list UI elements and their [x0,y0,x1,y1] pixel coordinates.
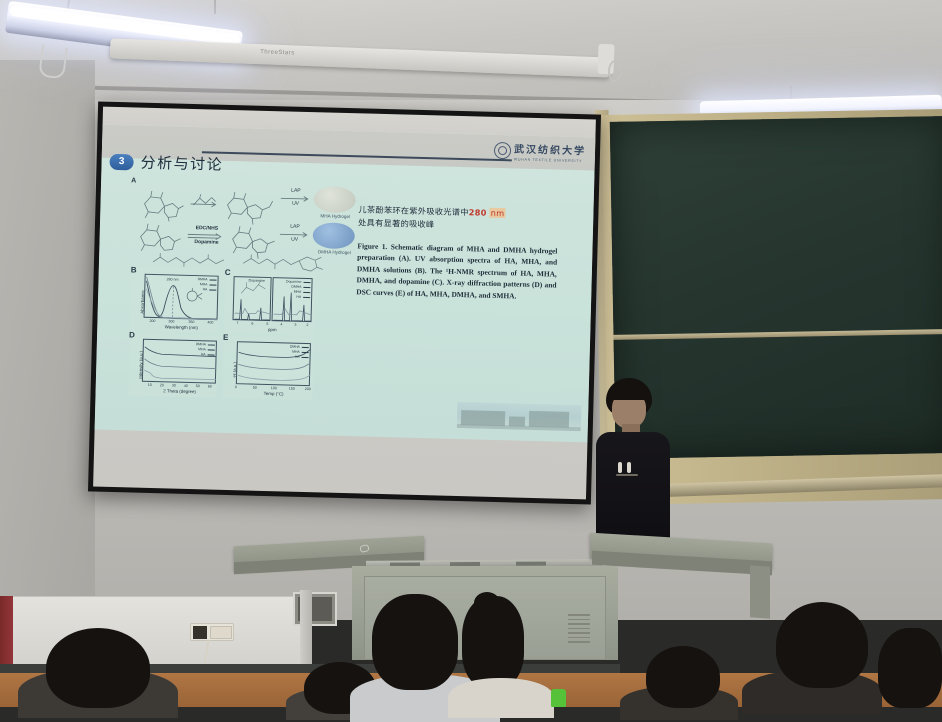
panel-e-xtick: 200 [305,387,311,391]
panel-d-xtick: 40 [184,384,188,388]
panel-b-xlabel: Wavelength (nm) [144,324,218,331]
molecule-bottom-right [241,252,327,272]
campus-photo [457,402,582,431]
panel-c-xtick: 6 [251,322,253,326]
panel-d-legend: DMHA MHA HA [196,342,215,357]
panel-c-plot-left: Dopamine [233,276,272,321]
panel-e-ylabel: -H (a.u.) [232,362,237,378]
panel-c-xlabel: ppm [232,326,312,333]
panel-d-chart: D DMHA MHA HA 10 20 [129,333,219,397]
figure-caption: Figure 1. Schematic diagram of MHA and D… [356,240,557,302]
audience-head [878,628,942,708]
panel-c-xtick: 5 [266,322,268,326]
arrow-a4-below-label: UV [282,236,308,243]
presenter-fringe [607,383,651,400]
molecule-ha [138,188,187,223]
shirt-graphic-icon [616,462,638,475]
panel-b-xtick: 400 [207,320,213,324]
panel-b-ylabel: Absorbance [140,290,146,314]
side-table-right-leg [750,565,770,618]
arrow-a3-below-label: Dopamine [187,239,225,246]
arrow-a3-above-label: EDC/NHS [188,225,226,232]
panel-c-left-label: Dopamine [249,278,265,282]
panel-b-label: B [131,265,137,274]
panel-b-annotation: 280 nm [167,277,179,281]
light-wire [214,0,216,14]
arrow-a4-above-label: LAP [282,223,308,230]
door-frame [300,590,312,674]
audience-head [776,602,868,688]
panel-e-plot: DMHA MHA HA [236,341,311,386]
legend-item: HA [296,295,301,300]
panel-e-chart: E DMHA MHA HA 0 50 [222,336,314,400]
mha-hydrogel-blob [313,186,356,213]
panel-c-chart: C Dopamine [224,270,316,335]
legend-item: HA [295,355,300,360]
panel-e-xtick: 100 [271,386,277,390]
panel-c-xtick: 4 [280,322,282,326]
audience-shoulders [448,678,554,718]
projection-screen: 武汉纺织大学 WUHAN TEXTILE UNIVERSITY 3 分析与讨论 … [88,101,601,504]
panel-b-xtick: 300 [168,319,174,323]
slide-title: 分析与讨论 [140,152,223,175]
panel-b-plot: 280 nm DMHA MHA HA [144,274,219,320]
audience-head [372,594,458,690]
panel-c-xtick: 3 [294,323,296,327]
projector-brand-label: ThreeStars [260,49,295,56]
panel-b-xtick: 200 [149,319,155,323]
panel-e-xtick: 50 [253,386,257,390]
wall-outlet[interactable] [190,623,234,641]
classroom-scene: ThreeStars 武汉纺织大学 WUHAN TEXTILE UNIVERSI… [0,0,942,707]
panel-c-legend: Dopamine DMHA MHA HA [286,279,311,300]
dmha-hydrogel-blob [312,222,355,249]
panel-b-xtick: 350 [188,320,194,324]
panel-b-chart: B 280 nm [130,267,220,332]
panel-e-xtick: 150 [289,387,295,391]
panel-d-xtick: 10 [148,383,152,387]
left-wall [0,60,95,620]
arrow-a1-below-label: UV [283,200,309,207]
logo-name-cn: 武汉纺织大学 [514,144,586,157]
panel-e-xtick: 0 [235,385,237,389]
legend-item: HA [203,287,208,292]
panel-e-legend: DMHA MHA HA [290,345,309,360]
panel-c-label: C [225,268,231,277]
panel-a-label: A [131,177,136,184]
panel-d-xtick: 30 [172,384,176,388]
panel-d-xtick: 60 [208,384,212,388]
panel-c-xtick: 7 [236,321,238,325]
audience-hair-bun [474,592,500,614]
slide-text-block: 儿茶酚苯环在紫外吸收光谱中280 nm 处具有显著的吸收峰 Figure 1. … [356,203,558,302]
screen-surface: 武汉纺织大学 WUHAN TEXTILE UNIVERSITY 3 分析与讨论 … [93,107,596,500]
legend-item: HA [201,352,206,357]
audience-head [46,628,150,708]
slide-title-row: 3 分析与讨论 [109,151,223,175]
panel-b-legend: DMHA MHA HA [197,277,216,292]
slide-number-badge: 3 [109,153,133,170]
arrow-a1-icon [190,201,218,208]
slide-cn-highlight-value: 280 [469,207,487,217]
panel-d-label: D [129,330,135,339]
slide-cn-line-1-pre: 儿茶酚苯环在紫外吸收光谱中 [358,204,469,217]
panel-c-xtick: 2 [306,323,308,327]
panel-e-label: E [223,333,229,342]
panel-a-scheme: A [129,177,346,268]
seal-icon [494,141,511,158]
panel-d-xtick: 20 [160,383,164,387]
panel-c-plot-right: Dopamine DMHA MHA HA [272,277,313,322]
podium-vent-icon [568,614,590,646]
water-bottle [551,689,566,707]
panel-e-xlabel: Temp (°C) [237,390,311,397]
arrow-a1-above-label: LAP [283,187,309,194]
audience-head [646,646,720,708]
slide-cn-highlight-unit: nm [490,208,506,218]
panel-d-xlabel: 2 Theta (degree) [143,388,217,395]
panel-d-xtick: 50 [196,384,200,388]
panel-d-ylabel: Intensity (a.u.) [138,351,144,379]
panel-d-plot: DMHA MHA HA [142,339,217,384]
mha-hydrogel-label: MHA Hydrogel [305,213,365,220]
slide-canvas: 武汉纺织大学 WUHAN TEXTILE UNIVERSITY 3 分析与讨论 … [95,125,596,443]
